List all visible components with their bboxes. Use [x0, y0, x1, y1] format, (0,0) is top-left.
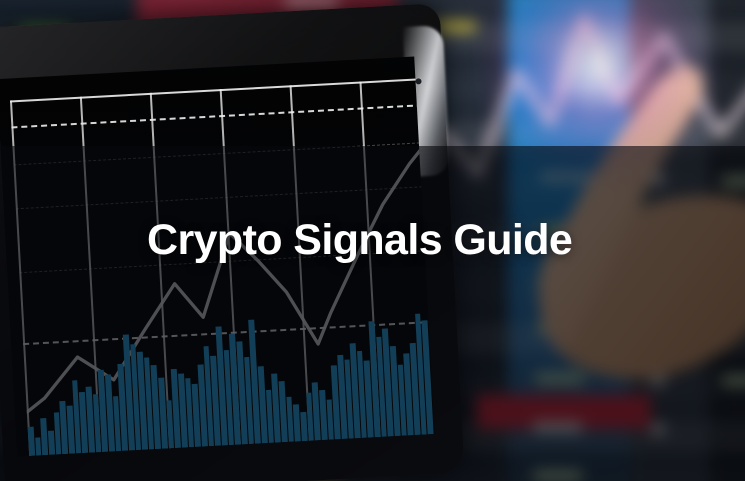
ticker-value	[285, 0, 338, 8]
ticker-value	[652, 424, 665, 434]
ticker-value	[533, 422, 582, 432]
touch-glow	[476, 0, 720, 187]
chart-bar	[286, 397, 294, 442]
screenshot-root: Crypto Signals Guide	[0, 0, 745, 481]
chart-bar	[35, 437, 42, 456]
chart-bar	[41, 418, 49, 455]
chart-bar	[293, 404, 301, 441]
ticker-value	[533, 471, 582, 481]
page-title: Crypto Signals Guide	[147, 216, 572, 265]
chart-bar	[28, 427, 35, 456]
chart-volume-bars	[22, 302, 435, 456]
